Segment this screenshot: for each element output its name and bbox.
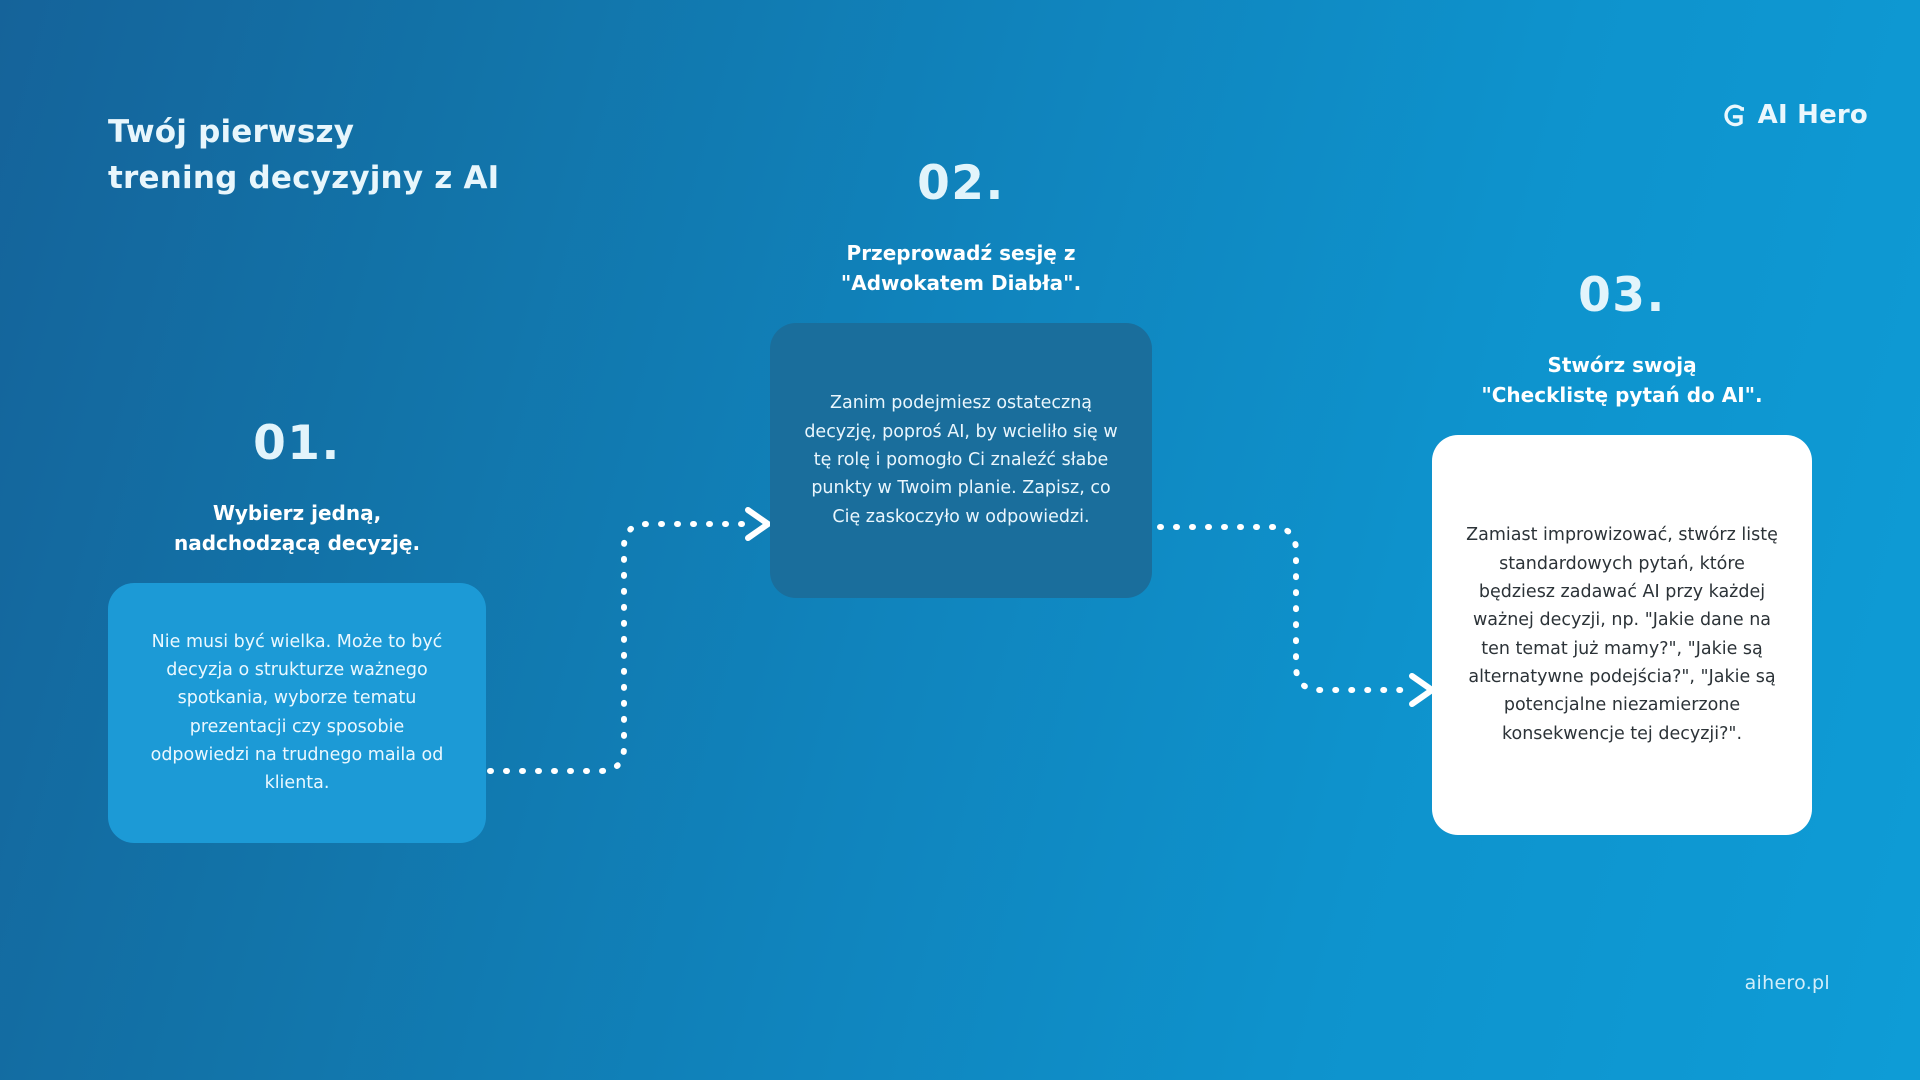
step-card-03: Zamiast improwizować, stwórz listę stand… [1432,435,1812,835]
step-number-02: 02. [770,160,1152,207]
step-heading-01: Wybierz jedną, nadchodzącą decyzję. [108,498,486,559]
step-card-02: Zanim podejmiesz ostateczną decyzję, pop… [770,323,1152,598]
brand-logo-text: AI Hero [1758,100,1868,130]
connector-step2-to-step3 [1160,527,1432,704]
ai-hero-logo-mark-icon [1720,102,1747,129]
step-card-text-02: Zanim podejmiesz ostateczną decyzję, pop… [800,389,1122,531]
step-card-text-03: Zamiast improwizować, stwórz listę stand… [1462,521,1782,748]
step-number-01: 01. [108,420,486,467]
step-block-01: 01. Wybierz jedną, nadchodzącą decyzję. … [108,420,486,843]
step-heading-03: Stwórz swoją "Checklistę pytań do AI". [1432,350,1812,411]
step-block-03: 03. Stwórz swoją "Checklistę pytań do AI… [1432,272,1812,835]
footer-website-url: aihero.pl [1745,972,1830,994]
step-heading-02: Przeprowadź sesję z "Adwokatem Diabła". [770,238,1152,299]
brand-logo: AI Hero [1720,100,1868,130]
connector-step1-to-step2 [490,510,768,771]
page-title: Twój pierwszy trening decyzyjny z AI [108,110,499,202]
step-card-text-01: Nie musi być wielka. Może to być decyzja… [138,628,456,798]
step-card-01: Nie musi być wielka. Może to być decyzja… [108,583,486,843]
step-block-02: 02. Przeprowadź sesję z "Adwokatem Diabł… [770,160,1152,598]
step-number-03: 03. [1432,272,1812,319]
